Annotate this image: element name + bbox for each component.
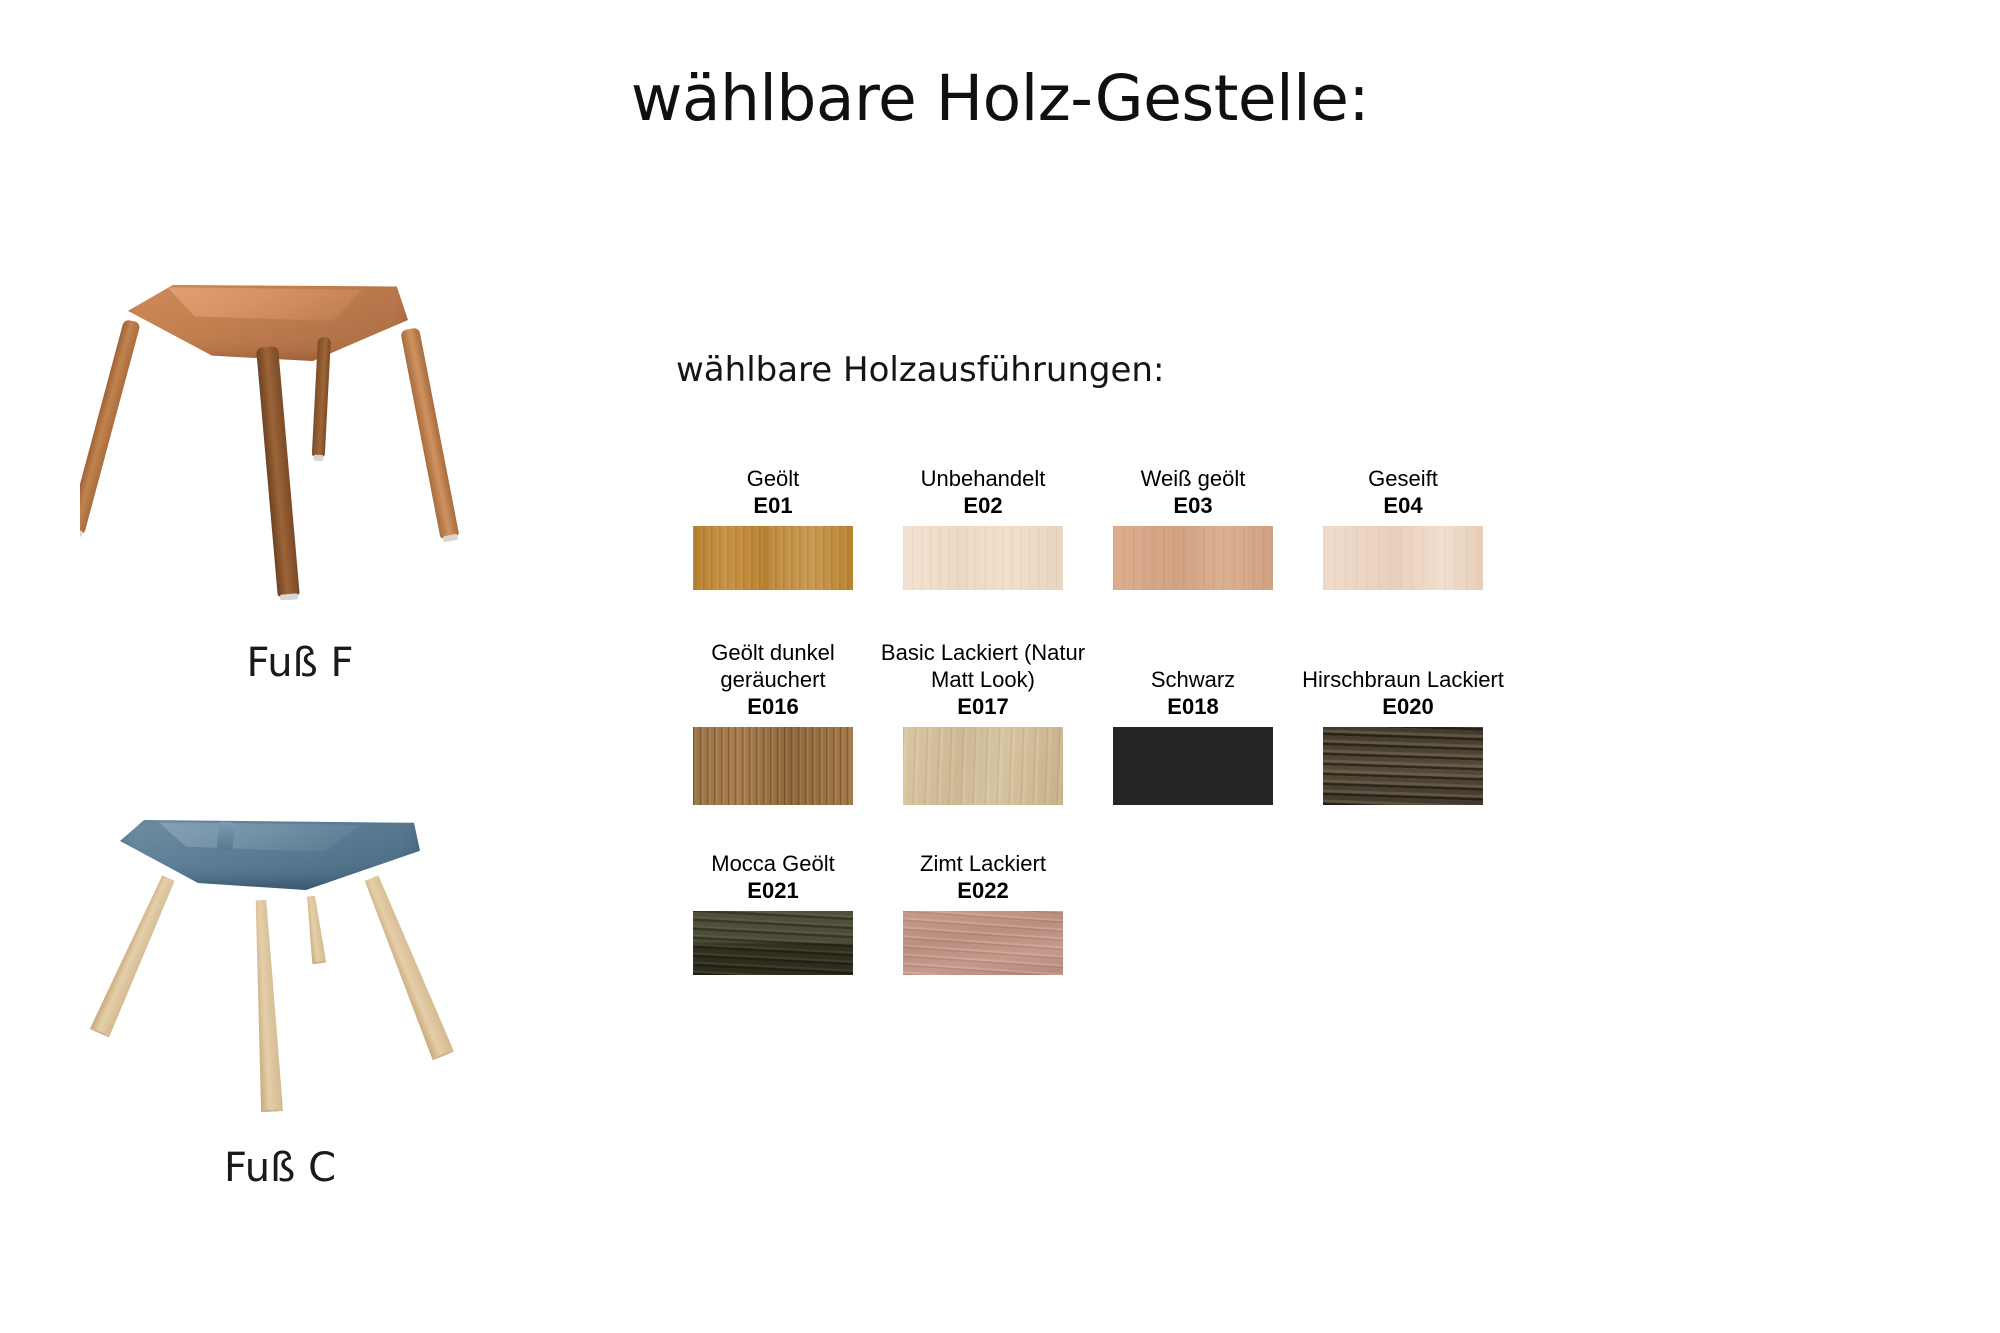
chair-leg-center	[250, 899, 283, 1112]
wood-finish-code: E022	[881, 877, 1086, 904]
chair-photo-fuss-c	[60, 820, 500, 1120]
wood-finish-code: E016	[671, 693, 876, 720]
wood-finish-label: Schwarz E018	[1091, 666, 1296, 720]
wood-finish-name: Hirschbraun Lackiert	[1302, 667, 1504, 692]
wood-finish-label: Weiß geölt E03	[1091, 465, 1296, 519]
wood-finish-swatch[interactable]	[1113, 727, 1273, 805]
wood-finish-name: Basic Lackiert (Natur Matt Look)	[881, 639, 1086, 693]
chair-leg-front-right	[400, 327, 459, 539]
wood-finish-option-e04[interactable]: Geseift E04	[1298, 465, 1508, 590]
wood-finish-code: E02	[881, 492, 1086, 519]
wood-finish-label: Geseift E04	[1301, 465, 1506, 519]
wood-finish-name: Zimt Lackiert	[881, 850, 1086, 877]
wood-finish-name: Unbehandelt	[881, 465, 1086, 492]
wood-finish-swatch[interactable]	[903, 911, 1063, 975]
chair-caption-fuss-c: Fuß C	[60, 1145, 500, 1191]
wood-finish-code: E021	[671, 877, 876, 904]
wood-finish-swatch[interactable]	[693, 727, 853, 805]
wood-finish-code: E01	[671, 492, 876, 519]
wood-finish-option-e022[interactable]: Zimt Lackiert E022	[878, 850, 1088, 975]
wood-finish-code: E017	[881, 693, 1086, 720]
wood-finish-name: Weiß geölt	[1091, 465, 1296, 492]
wood-finish-option-e021[interactable]: Mocca Geölt E021	[668, 850, 878, 975]
chair-caption-fuss-f: Fuß F	[80, 640, 520, 686]
chair-leg-front-right	[361, 874, 454, 1061]
wood-finish-code: E020	[1382, 694, 1433, 719]
wood-finish-label: Unbehandelt E02	[881, 465, 1086, 519]
wood-finish-swatch[interactable]	[1323, 727, 1483, 805]
wood-finish-label: Hirschbraun Lackiert E020	[1301, 666, 1506, 720]
wood-finish-option-e016[interactable]: Geölt dunkel geräuchert E016	[668, 635, 878, 805]
wood-finish-option-e01[interactable]: Geölt E01	[668, 465, 878, 590]
wood-finish-label: Basic Lackiert (Natur Matt Look) E017	[881, 639, 1086, 720]
wood-finish-swatch[interactable]	[693, 526, 853, 590]
wood-finish-option-e03[interactable]: Weiß geölt E03	[1088, 465, 1298, 590]
wood-finish-code: E018	[1091, 693, 1296, 720]
chair-seat-tab	[217, 821, 236, 851]
wood-finish-name: Schwarz	[1091, 666, 1296, 693]
wood-finish-name: Geseift	[1301, 465, 1506, 492]
wood-finish-row: Geölt E01 Unbehandelt E02 Weiß geölt E03	[668, 465, 1508, 590]
wood-finish-swatch[interactable]	[903, 526, 1063, 590]
slide-canvas: wählbare Holz-Gestelle: Fuß F Fuß C wähl…	[0, 0, 2000, 1333]
chair-leg-front-left	[90, 874, 178, 1038]
wood-finish-option-e017[interactable]: Basic Lackiert (Natur Matt Look) E017	[878, 635, 1088, 805]
wood-finish-option-e020[interactable]: Hirschbraun Lackiert E020	[1298, 635, 1508, 805]
wood-finish-code: E04	[1301, 492, 1506, 519]
wood-finish-row: Mocca Geölt E021 Zimt Lackiert E022	[668, 850, 1508, 975]
wood-finish-swatch[interactable]	[903, 727, 1063, 805]
wood-finish-swatch[interactable]	[693, 911, 853, 975]
wood-finish-option-e02[interactable]: Unbehandelt E02	[878, 465, 1088, 590]
chair-photo-fuss-f	[80, 285, 520, 600]
wood-finish-label: Mocca Geölt E021	[671, 850, 876, 904]
wood-finish-label: Geölt E01	[671, 465, 876, 519]
chair-leg-center	[256, 346, 300, 597]
wood-finish-label: Geölt dunkel geräuchert E016	[671, 639, 876, 720]
wood-finish-row: Geölt dunkel geräuchert E016 Basic Lacki…	[668, 635, 1508, 805]
chair-leg-front-left	[80, 319, 141, 534]
wood-finish-name: Mocca Geölt	[671, 850, 876, 877]
wood-finish-name: Geölt	[671, 465, 876, 492]
wood-finish-label: Zimt Lackiert E022	[881, 850, 1086, 904]
page-title: wählbare Holz-Gestelle:	[0, 62, 2000, 135]
wood-finish-option-e018[interactable]: Schwarz E018	[1088, 635, 1298, 805]
wood-finish-grid: Geölt E01 Unbehandelt E02 Weiß geölt E03	[668, 465, 1508, 975]
wood-finish-code: E03	[1091, 492, 1296, 519]
wood-finish-swatch[interactable]	[1323, 526, 1483, 590]
section-subtitle: wählbare Holzausführungen:	[676, 350, 1164, 390]
chair-leg-back	[304, 895, 326, 964]
wood-finish-name: Geölt dunkel geräuchert	[671, 639, 876, 693]
wood-finish-swatch[interactable]	[1113, 526, 1273, 590]
